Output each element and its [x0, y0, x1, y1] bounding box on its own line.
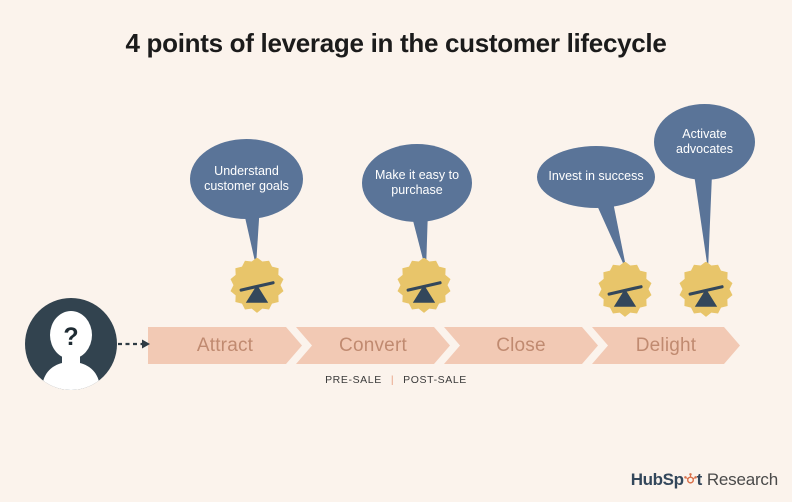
funnel-stage-convert-label: Convert [339, 335, 407, 357]
leverage-badge-attract[interactable] [229, 258, 285, 314]
funnel-stage-attract-label: Attract [197, 335, 253, 357]
sprocket-icon [684, 471, 697, 484]
funnel-stage-close[interactable]: Close [444, 327, 598, 364]
post-sale-label: POST-SALE [403, 374, 467, 386]
logo-brand-part-2: t [697, 470, 702, 490]
funnel-stage-delight-label: Delight [636, 335, 697, 357]
svg-text:?: ? [63, 323, 78, 351]
page-title: 4 points of leverage in the customer lif… [0, 28, 792, 59]
pre-sale-label: PRE-SALE [325, 374, 382, 386]
sale-phase-labels: PRE-SALE|POST-SALE [0, 374, 792, 386]
bubble-3-line-1: Invest in success [548, 169, 643, 184]
leverage-badge-delight-1[interactable] [597, 262, 653, 318]
bubble-activate-advocates[interactable]: Activate advocates [654, 104, 755, 180]
leverage-badge-convert[interactable] [396, 258, 452, 314]
hubspot-research-logo: HubSp t Research [631, 470, 778, 490]
bubble-2-line-2: purchase [375, 183, 459, 198]
leverage-badge-delight-2[interactable] [678, 262, 734, 318]
infographic-canvas: 4 points of leverage in the customer lif… [0, 0, 792, 502]
lever-fulcrum-icon [396, 258, 452, 314]
bubble-4-line-1: Activate [676, 127, 733, 142]
customer-avatar: ? [25, 298, 117, 390]
logo-suffix: Research [707, 470, 778, 490]
funnel-stage-close-label: Close [496, 335, 546, 357]
person-question-icon: ? [25, 298, 117, 390]
bubble-2-line-1: Make it easy to [375, 168, 459, 183]
lever-fulcrum-icon [597, 262, 653, 318]
funnel-stage-convert[interactable]: Convert [296, 327, 450, 364]
sale-divider: | [382, 374, 403, 386]
funnel-stage-attract[interactable]: Attract [148, 327, 302, 364]
bubble-1-line-2: customer goals [204, 179, 289, 194]
funnel-stage-delight[interactable]: Delight [592, 327, 740, 364]
dashed-arrow-icon [118, 337, 152, 351]
bubble-1-line-1: Understand [204, 164, 289, 179]
bubble-4-line-2: advocates [676, 142, 733, 157]
logo-brand-part-1: HubSp [631, 470, 684, 490]
lifecycle-funnel: Attract Convert Close Delight [148, 327, 740, 364]
bubble-understand-customer-goals[interactable]: Understand customer goals [190, 139, 303, 219]
lever-fulcrum-icon [678, 262, 734, 318]
bubble-make-it-easy-to-purchase[interactable]: Make it easy to purchase [362, 144, 472, 222]
bubble-invest-in-success[interactable]: Invest in success [537, 146, 655, 208]
bubble-tail-4 [680, 170, 740, 275]
lever-fulcrum-icon [229, 258, 285, 314]
